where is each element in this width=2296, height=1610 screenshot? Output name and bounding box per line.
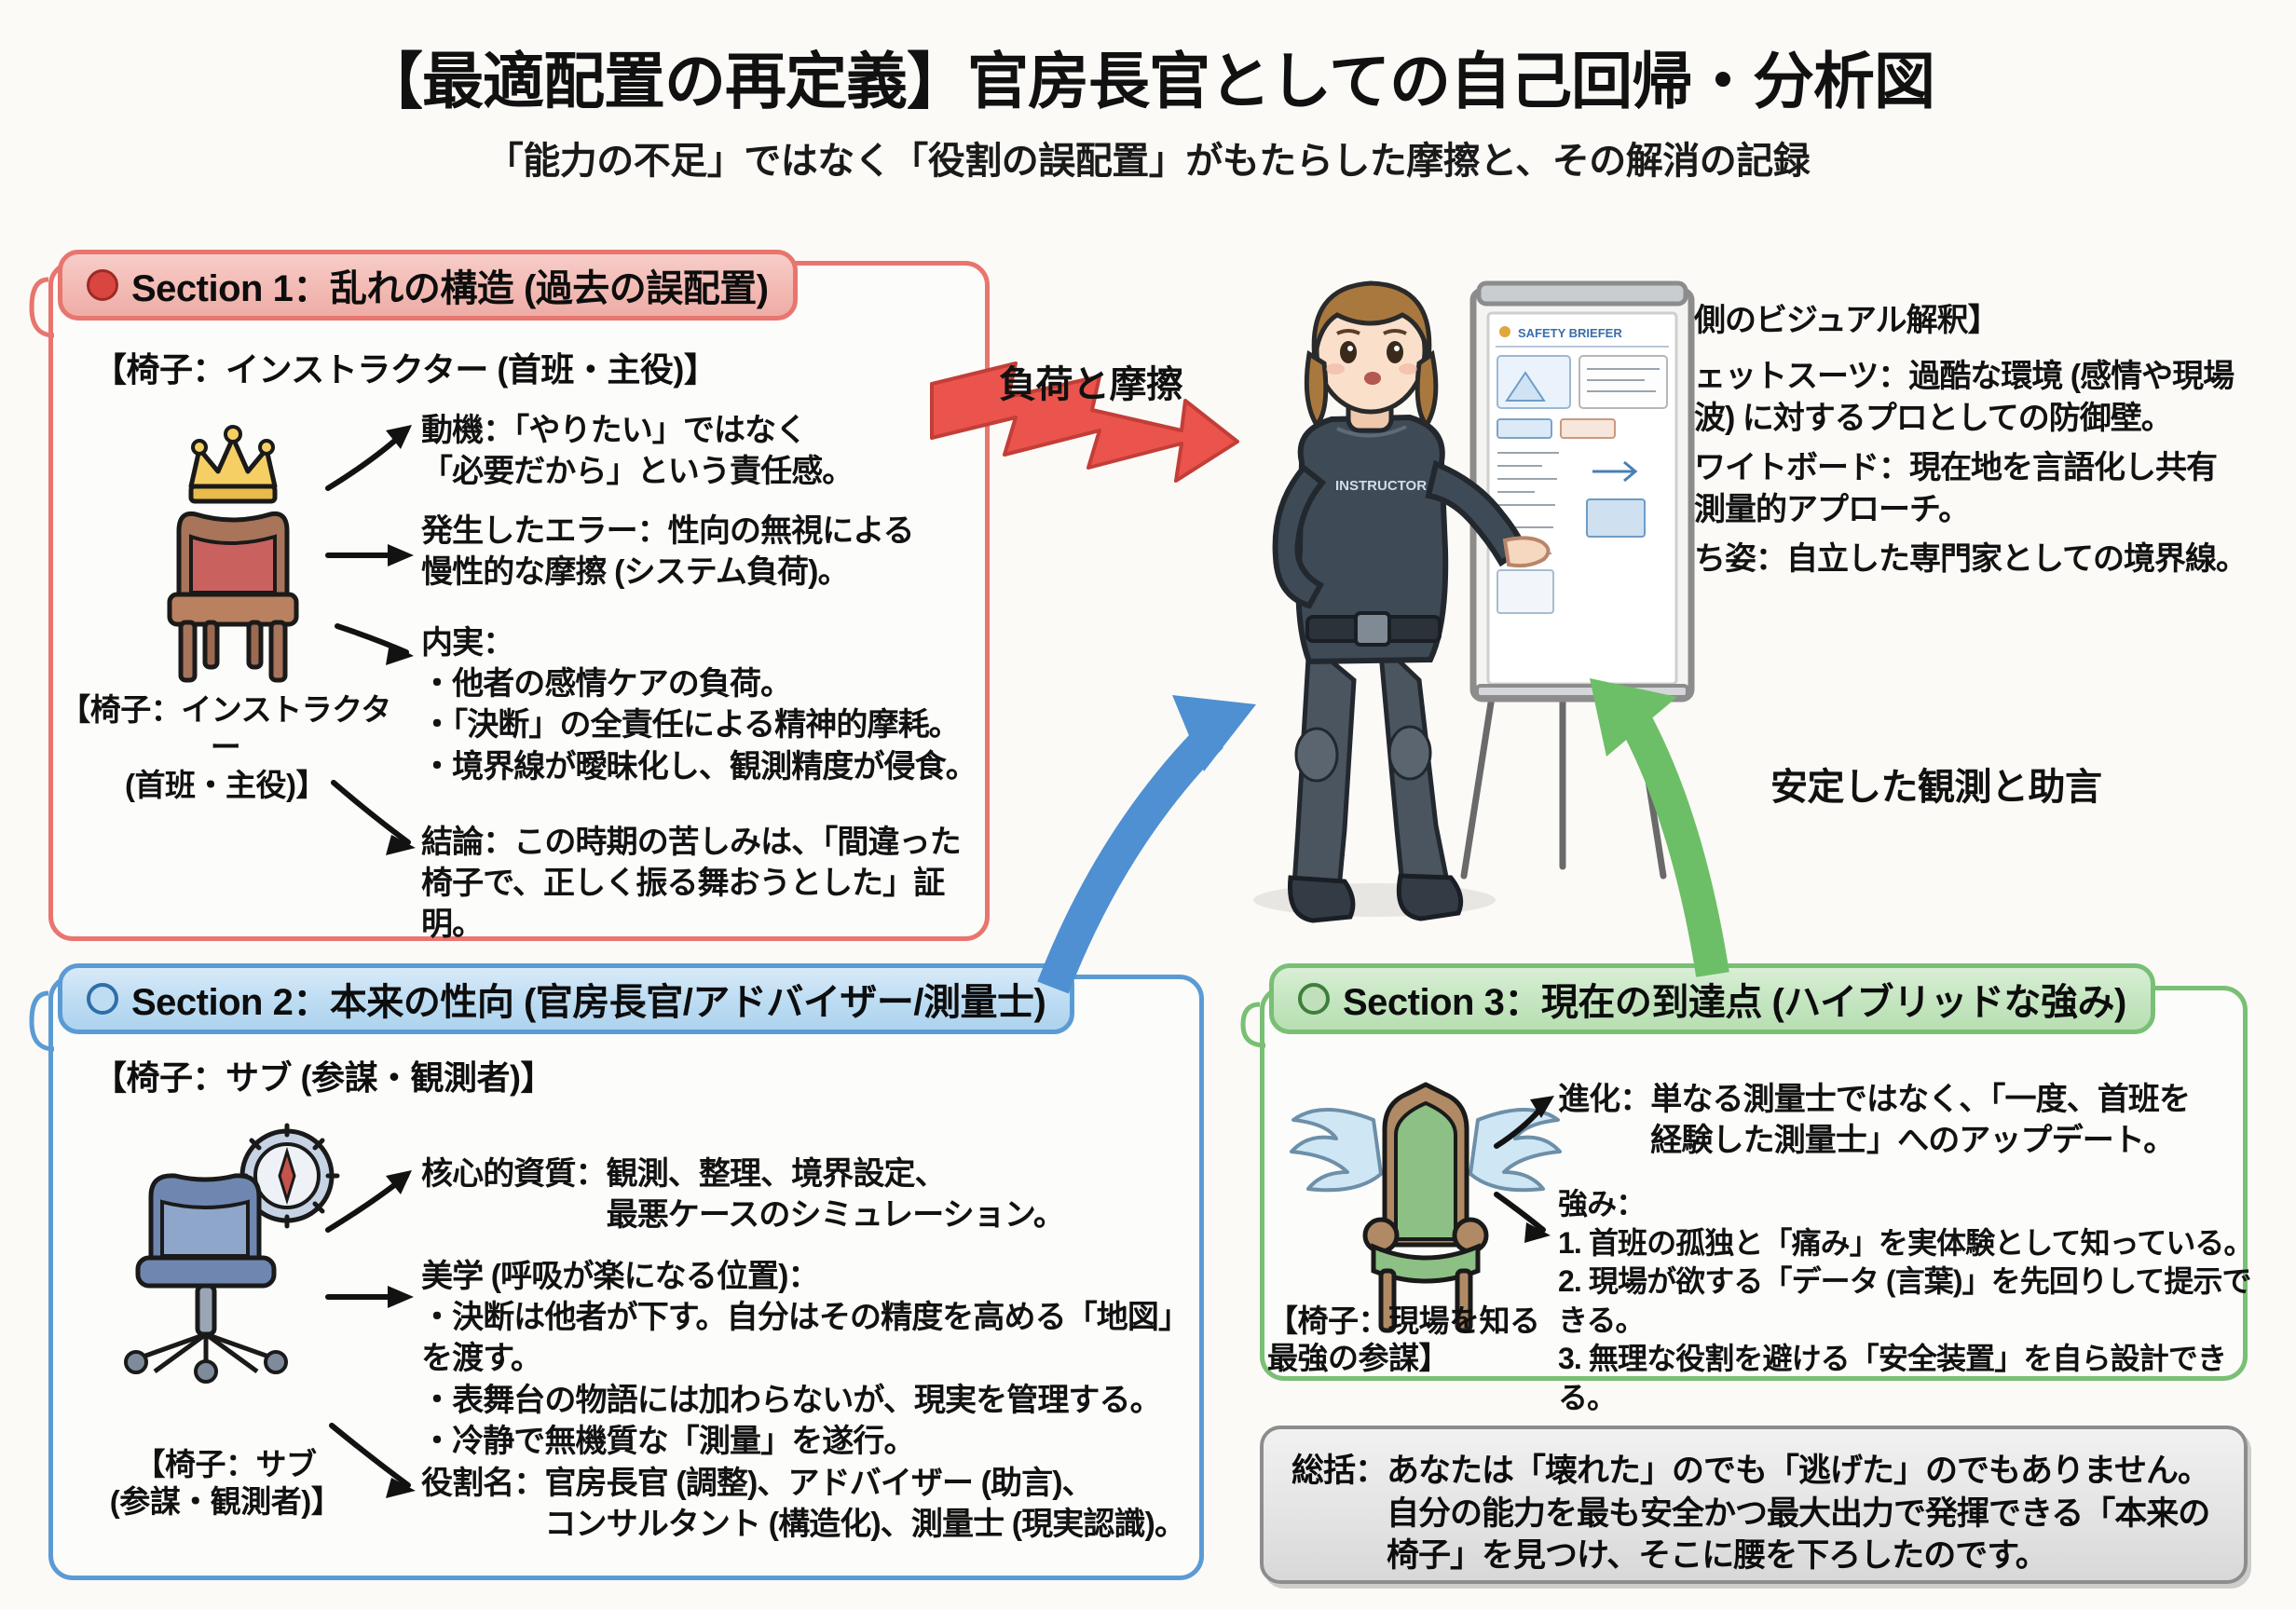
section-2-item-0: 核心的資質：観測、整理、境界設定、 最悪ケースのシミュレーション。: [421, 1153, 1185, 1235]
arrow-label-load-friction-text: 負荷と摩擦: [999, 364, 1183, 405]
arrow-label-observation: 安定した観測と助言: [1761, 755, 2111, 812]
sub-officer-chair-icon: [93, 1118, 373, 1388]
section-2-chair-heading: 【椅子：サブ (参謀・観測者)】: [93, 1051, 553, 1099]
winged-chair-icon: [1277, 1062, 1575, 1342]
section-3-header: Section 3：現在の到達点 (ハイブリッドな強み): [1269, 963, 2155, 1034]
section-2-header: Section 2：本来の性向 (官房長官/アドバイザー/測量士): [58, 963, 1074, 1034]
page-subtitle: 「能力の不足」ではなく「役割の誤配置」がもたらした摩擦と、その解消の記録: [0, 130, 2296, 184]
section-1-bullet-icon: [87, 269, 118, 301]
section-1-heading-label: Section 1：乱れの構造 (過去の誤配置): [131, 258, 769, 312]
diver-presenter-illustration: SAFETY BRIEFER: [1197, 270, 1719, 941]
visual-interpretation-item-2: ・立ち姿：自立した専門家としての境界線。: [1633, 539, 2285, 580]
section-3-item-0: 進化：単なる測量士ではなく、「一度、首班を 経験した測量士」へのアップデート。: [1558, 1079, 2266, 1161]
infographic-canvas: 【最適配置の再定義】官房長官としての自己回帰・分析図 「能力の不足」ではなく「役…: [0, 0, 2296, 1610]
section-2-item-2: 役割名：官房長官 (調整)、アドバイザー (助言)、 コンサルタント (構造化)…: [421, 1463, 1195, 1545]
section-1-item-0: 動機：「やりたい」ではなく 「必要だから」という責任感。: [421, 410, 980, 492]
section-1-item-2: 内実： ・他者の感情ケアの負荷。 ・「決断」の全責任による精神的摩耗。 ・境界線…: [421, 622, 999, 787]
wetsuit-logo-text: INSTRUCTOR: [1335, 478, 1427, 494]
section-2-chair-caption: 【椅子：サブ (参謀・観測者)】: [58, 1446, 393, 1521]
section-2-item-1: 美学 (呼吸が楽になる位置)： ・決断は他者が下す。自分はその精度を高める「地図…: [421, 1256, 1195, 1462]
section-2-heading-label: Section 2：本来の性向 (官房長官/アドバイザー/測量士): [131, 972, 1045, 1026]
instructor-chair-icon: [102, 410, 363, 689]
section-1-item-3: 結論：この時期の苦しみは、「間違った 椅子で、正しく振る舞おうとした」証明。: [421, 822, 999, 946]
whiteboard-title-text: SAFETY BRIEFER: [1518, 326, 1622, 340]
visual-interpretation-item-0: ・ウェットスーツ：過酷な環境 (感情や現場 の荒波) に対するプロとしての防御壁…: [1633, 356, 2285, 439]
section-2-bullet-icon: [87, 983, 118, 1015]
arrow-label-load-friction: 負荷と摩擦: [990, 352, 1193, 410]
summary-box: 総括：あなたは「壊れた」のでも「逃げた」のでもありません。 自分の能力を最も安全…: [1260, 1426, 2248, 1584]
section-1-header: Section 1：乱れの構造 (過去の誤配置): [58, 250, 798, 321]
arrow-label-observation-text: 安定した観測と助言: [1770, 767, 2102, 808]
section-1-item-1: 発生したエラー：性向の無視による 慢性的な摩擦 (システム負荷)。: [421, 511, 999, 593]
page-title: 【最適配置の再定義】官房長官としての自己回帰・分析図: [0, 32, 2296, 121]
visual-interpretation-item-1: ・ホワイトボード：現在地を言語化し共有 する測量的アプローチ。: [1633, 447, 2285, 530]
section-3-chair-caption: 【椅子：現場を知る 最強の参謀】: [1267, 1303, 1584, 1378]
section-1-chair-caption: 【椅子：インストラクター (首班・主役)】: [58, 691, 393, 804]
section-1-chair-heading: 【椅子：インストラクター (首班・主役)】: [93, 343, 717, 391]
section-3-item-1: 強み： 1. 首班の孤独と「痛み」を実体験として知っている。 2. 現場が欲する…: [1558, 1185, 2266, 1418]
section-3-bullet-icon: [1298, 983, 1330, 1015]
section-3-heading-label: Section 3：現在の到達点 (ハイブリッドな強み): [1343, 972, 2126, 1026]
